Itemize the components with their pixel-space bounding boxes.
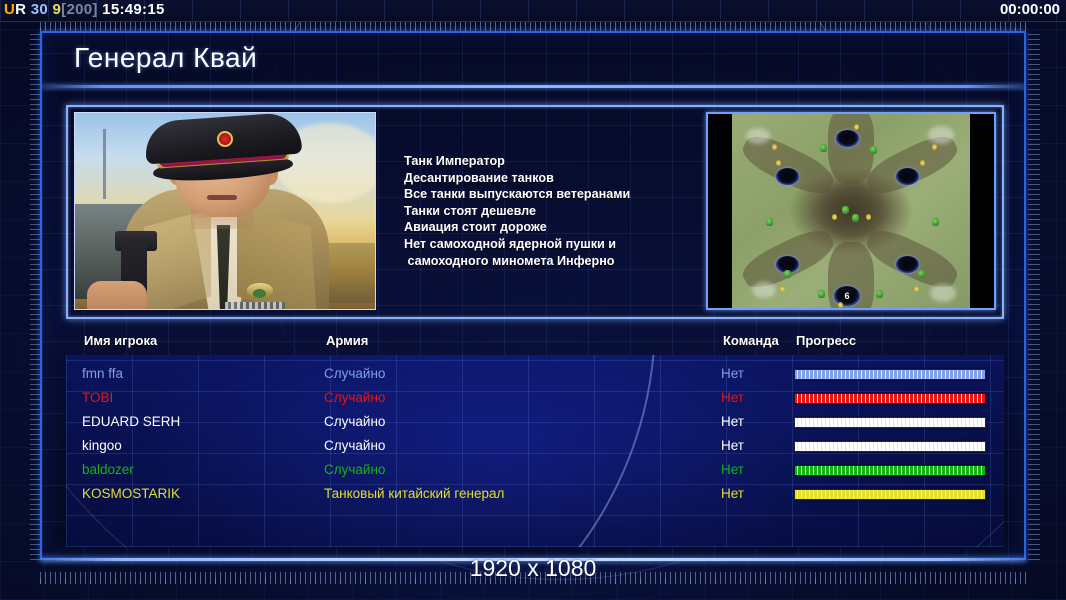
player-row[interactable]: TOBIСлучайноНет	[66, 387, 1004, 411]
map-start-position-bottom-right	[896, 256, 919, 273]
map-start-position-top	[836, 130, 859, 147]
player-row[interactable]: KOSMOSTARIKТанковый китайский генералНет	[66, 483, 1004, 507]
player-row[interactable]: EDUARD SERHСлучайноНет	[66, 411, 1004, 435]
player-name: fmn ffa	[82, 366, 123, 381]
player-progress-bar	[794, 465, 986, 476]
lobby-frame: Генерал Квай	[40, 31, 1026, 560]
player-army: Случайно	[324, 462, 385, 477]
status-bracket-value: [200]	[61, 1, 98, 18]
status-number-1: 30	[31, 1, 48, 18]
player-progress-bar	[794, 417, 986, 428]
map-road-top	[828, 112, 874, 184]
status-prefix-r: R	[15, 1, 26, 18]
status-clock: 15:49:15	[102, 1, 164, 18]
player-name: TOBI	[82, 390, 113, 405]
map-tree-4	[932, 218, 939, 226]
map-resource-7	[866, 214, 871, 220]
player-progress-bar	[794, 369, 986, 380]
map-start-position-top-right	[896, 168, 919, 185]
player-name: kingoo	[82, 438, 122, 453]
page-title: Генерал Квай	[74, 42, 257, 74]
player-row[interactable]: fmn ffaСлучайноНет	[66, 363, 1004, 387]
map-tree-5	[842, 206, 849, 214]
map-resource-5	[920, 160, 925, 166]
map-resource-4	[776, 160, 781, 166]
game-timer: 00:00:00	[1000, 1, 1060, 18]
status-prefix-u: U	[4, 1, 15, 18]
player-team: Нет	[721, 414, 744, 429]
map-resource-3	[932, 144, 937, 150]
top-status-bar: UR 30 9[200] 15:49:15 00:00:00	[0, 0, 1066, 22]
portrait-hand	[87, 281, 147, 310]
player-table-headers: Имя игрока Армия Команда Прогресс	[68, 333, 1006, 355]
map-cloud-3	[752, 282, 776, 298]
player-row[interactable]: kingooСлучайноНет	[66, 435, 1004, 459]
map-resource-2	[772, 144, 777, 150]
map-tree-7	[818, 290, 825, 298]
player-team: Нет	[721, 366, 744, 381]
map-tree-6	[852, 214, 859, 222]
title-bar: Генерал Квай	[42, 33, 1026, 87]
player-army: Случайно	[324, 390, 385, 405]
map-cloud-4	[930, 284, 956, 302]
player-team: Нет	[721, 438, 744, 453]
player-progress-bar	[794, 489, 986, 500]
column-header-team: Команда	[723, 333, 779, 348]
map-start-position-top-left	[776, 168, 799, 185]
player-army: Случайно	[324, 414, 385, 429]
general-description: Танк Император Десантирование танков Все…	[404, 153, 734, 269]
player-team: Нет	[721, 390, 744, 405]
map-cloud-1	[746, 128, 770, 144]
general-portrait	[74, 112, 376, 310]
player-row[interactable]: baldozerСлучайноНет	[66, 459, 1004, 483]
bottom-ruler-strip: 1920 x 1080	[40, 564, 1026, 580]
player-name: KOSMOSTARIK	[82, 486, 180, 501]
map-tree-1	[820, 144, 827, 152]
portrait-mouth	[207, 195, 237, 200]
portrait-bottom-strip	[225, 302, 285, 309]
player-list-panel: fmn ffaСлучайноНетTOBIСлучайноНетEDUARD …	[66, 355, 1004, 547]
resolution-label: 1920 x 1080	[40, 555, 1026, 582]
player-army: Танковый китайский генерал	[324, 486, 504, 501]
map-tree-3	[766, 218, 773, 226]
map-terrain: 6	[732, 114, 970, 308]
portrait-pole	[103, 129, 106, 199]
player-army: Случайно	[324, 438, 385, 453]
map-tree-8	[876, 290, 883, 298]
player-name: EDUARD SERH	[82, 414, 180, 429]
map-cloud-2	[928, 126, 954, 144]
game-status-readout: UR 30 9[200] 15:49:15	[4, 1, 165, 18]
map-resource-1	[854, 124, 859, 130]
column-header-army: Армия	[326, 333, 368, 348]
map-start-position-label: 6	[844, 291, 849, 301]
map-resource-9	[914, 286, 919, 292]
player-progress-bar	[794, 393, 986, 404]
map-resource-8	[780, 286, 785, 292]
map-tree-9	[784, 270, 791, 278]
column-header-name: Имя игрока	[84, 333, 157, 348]
portrait-uniform-badge-center	[253, 289, 266, 298]
map-tree-2	[870, 146, 877, 154]
general-info-panel: Танк Император Десантирование танков Все…	[66, 105, 1004, 319]
player-army: Случайно	[324, 366, 385, 381]
column-header-progress: Прогресс	[796, 333, 856, 348]
map-tree-10	[918, 270, 925, 278]
map-resource-6	[832, 214, 837, 220]
player-team: Нет	[721, 486, 744, 501]
frame-ruler-right	[1028, 31, 1040, 560]
title-separator	[42, 85, 1026, 88]
map-resource-10	[838, 302, 843, 308]
player-progress-bar	[794, 441, 986, 452]
map-preview[interactable]: 6	[706, 112, 996, 310]
status-number-2: 9	[53, 1, 62, 18]
player-name: baldozer	[82, 462, 134, 477]
player-team: Нет	[721, 462, 744, 477]
